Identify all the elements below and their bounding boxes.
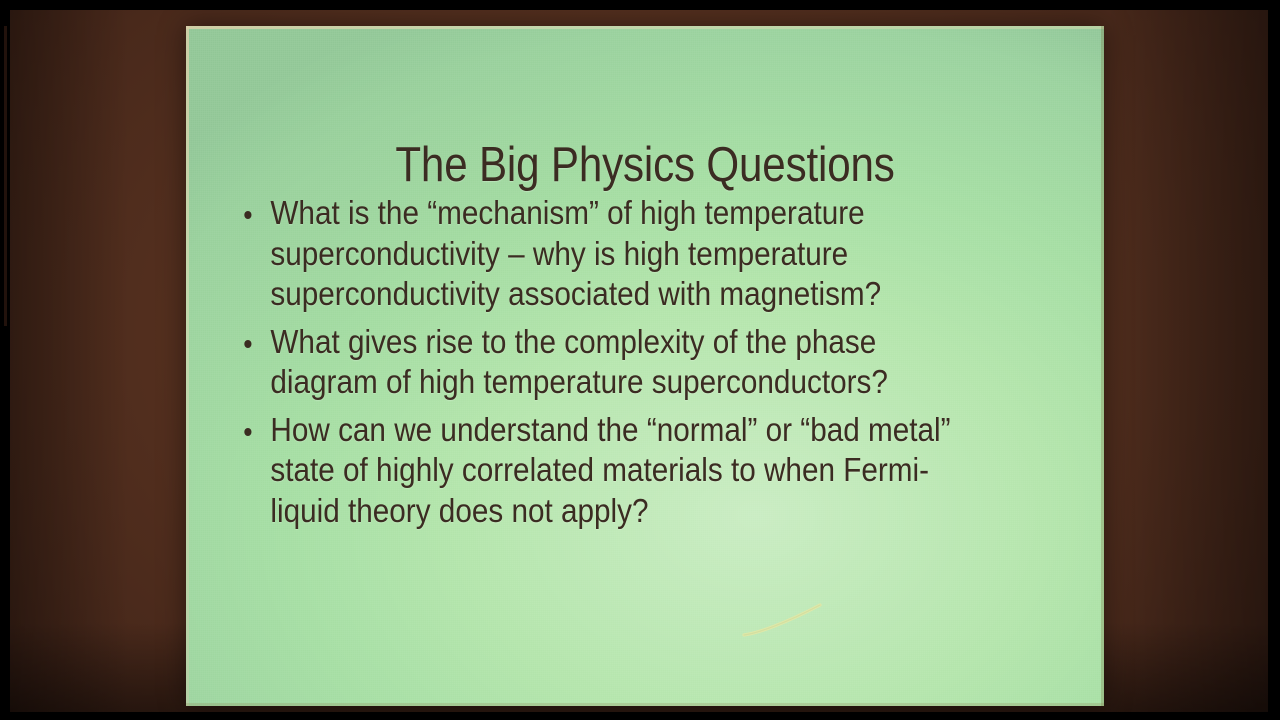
projected-slide-photo: The Big Physics Questions What is the “m… bbox=[0, 0, 1280, 720]
slide-title: The Big Physics Questions bbox=[250, 141, 1039, 190]
frame-edge-left-inner bbox=[4, 26, 7, 326]
pointer-stroke-annotation bbox=[742, 602, 828, 642]
bullet-item-3: How can we understand the “normal” or “b… bbox=[238, 410, 985, 532]
bullet-dot-icon bbox=[244, 340, 251, 348]
bullet-list: What is the “mechanism” of high temperat… bbox=[238, 193, 1068, 538]
bullet-item-1: What is the “mechanism” of high temperat… bbox=[238, 193, 985, 315]
bullet-dot-icon bbox=[244, 428, 251, 436]
frame-edge-right bbox=[1268, 0, 1280, 720]
wall-shadow-left bbox=[9, 9, 129, 712]
wall-shadow-right bbox=[1108, 9, 1268, 712]
slide-content: The Big Physics Questions What is the “m… bbox=[186, 26, 1104, 706]
bullet-dot-icon bbox=[244, 211, 251, 219]
bullet-item-2: What gives rise to the complexity of the… bbox=[238, 322, 985, 403]
bullet-item-2-text: What gives rise to the complexity of the… bbox=[270, 322, 985, 403]
bullet-item-1-text: What is the “mechanism” of high temperat… bbox=[270, 193, 985, 315]
frame-edge-top bbox=[0, 0, 1280, 10]
bullet-item-3-text: How can we understand the “normal” or “b… bbox=[270, 410, 985, 532]
presentation-slide: The Big Physics Questions What is the “m… bbox=[186, 26, 1104, 706]
frame-edge-bottom bbox=[0, 712, 1280, 720]
